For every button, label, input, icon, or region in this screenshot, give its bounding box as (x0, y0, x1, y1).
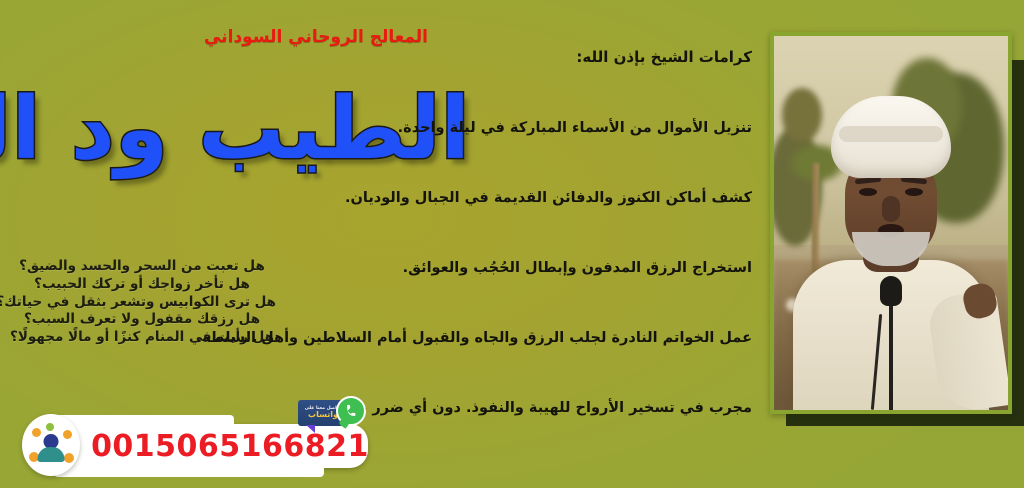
decor-dot (63, 430, 72, 439)
photo-frame (770, 32, 1012, 414)
poster-canvas: المعالج الروحاني السوداني الطيب ود النور… (0, 0, 1024, 488)
turban-wrap (839, 126, 943, 142)
eye-right (905, 188, 923, 196)
karamat-item: كشف أماكن الكنوز والدفائن القديمة في الج… (242, 190, 752, 206)
eye-left (859, 188, 877, 196)
decor-dot (64, 453, 74, 463)
question-line: هل ترى الكوابيس وتشعر بثقل في حياتك؟ (8, 294, 276, 312)
decor-dot (32, 428, 41, 437)
whatsapp-badge[interactable]: تواصل معنا على واتساب (298, 396, 366, 436)
contact-person-icon (22, 414, 80, 476)
karamat-item: عمل الخواتم النادرة لجلب الرزق والجاه وا… (242, 330, 752, 346)
karamat-list: كرامات الشيخ بإذن الله: تنزيل الأموال من… (242, 48, 752, 416)
nose (882, 196, 900, 222)
karamat-heading: كرامات الشيخ بإذن الله: (242, 48, 752, 66)
whatsapp-label-line2: واتساب (308, 411, 338, 420)
white-turban (831, 96, 951, 178)
avatar-body (38, 447, 65, 462)
karamat-item: تنزيل الأموال من الأسماء المباركة في ليل… (242, 120, 752, 136)
karamat-item: استخراج الرزق المدفون وإبطال الحُجُب وال… (242, 260, 752, 276)
brand-tagline-text: المعالج الروحاني السوداني (204, 27, 428, 47)
question-line: هل تأخر زواجك أو تركك الحبيب؟ (8, 276, 276, 294)
tree-icon (782, 88, 822, 142)
question-line: هل تعبت من السحر والحسد والضيق؟ (8, 258, 276, 276)
microphone-stand (889, 290, 893, 410)
whatsapp-phone-icon[interactable] (336, 396, 366, 426)
question-line: هل رزقك مقفول ولا تعرف السبب؟ (8, 311, 276, 329)
sheikh-portrait-photo (774, 36, 1008, 410)
microphone-icon (880, 276, 902, 306)
decor-dot (46, 423, 54, 431)
